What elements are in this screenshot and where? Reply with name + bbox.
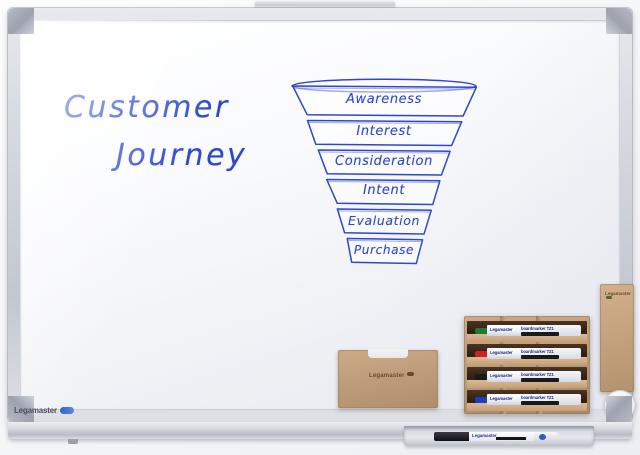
marker-model-label: boardmarker TZ1 [521,326,554,331]
tray-marker-badge-icon [539,434,546,440]
whiteboard-scene: Customer Journey AwarenessInterestConsid… [0,0,640,455]
legamaster-dot-icon [606,296,612,299]
marker-brand-label: Legamaster [490,396,513,401]
caddy-slot[interactable]: Legamasterboardmarker TZ1 [467,321,587,342]
marker-model-label: boardmarker TZ1 [521,395,554,400]
cardboard-eraser-holder[interactable]: Legamaster [600,284,634,392]
tray-marker-end [534,432,558,441]
marker-brand-label: Legamaster [490,350,513,355]
marker-colour-band [521,401,559,405]
funnel-stage-label: Interest [286,124,482,139]
frame-corner-top-right [606,8,632,34]
marker-model-label: boardmarker TZ1 [521,349,554,354]
pocket-brand-text: Legamaster [369,373,405,379]
frame-brand-plate: Legamaster [14,406,74,415]
marker-red[interactable]: Legamasterboardmarker TZ1 [475,348,581,359]
marker-green[interactable]: Legamasterboardmarker TZ1 [475,325,581,336]
marker-model-label: boardmarker TZ1 [521,372,554,377]
pocket-notch [368,349,408,358]
tray-marker-cap [434,432,470,441]
caddy-slot[interactable]: Legamasterboardmarker TZ1 [467,367,587,388]
funnel-stage-label: Consideration [286,154,482,169]
frame-corner-top-left [8,8,34,34]
marker-colour-band [521,332,559,336]
rail-clip [68,439,78,444]
legamaster-dot-icon [407,372,414,376]
marker-brand-label: Legamaster [490,373,513,378]
cardboard-pen-pocket[interactable]: Legamaster [338,350,438,408]
funnel-stage-label: Purchase [286,243,482,257]
tray-marker-brand-label: Legamaster [472,433,497,438]
whiteboard-surface[interactable]: Customer Journey AwarenessInterestConsid… [20,20,620,410]
cardboard-marker-caddy[interactable]: Legamasterboardmarker TZ1Legamasterboard… [464,316,590,414]
marker-colour-band [521,355,559,359]
whiteboard-frame: Customer Journey AwarenessInterestConsid… [8,8,632,422]
handwritten-title-line-1: Customer [64,90,230,125]
funnel-diagram: AwarenessInterestConsiderationIntentEval… [286,72,482,272]
marker-brand-label: Legamaster [490,327,513,332]
funnel-stage-label: Intent [286,183,482,198]
aluminium-pen-tray[interactable]: Legamaster [404,426,594,446]
caddy-slot[interactable]: Legamasterboardmarker TZ1 [467,390,587,411]
caddy-slot[interactable]: Legamasterboardmarker TZ1 [467,344,587,365]
funnel-stage-label: Evaluation [286,213,482,228]
tray-marker-model-band [496,437,526,440]
marker-colour-band [521,378,559,382]
funnel-stage-label: Awareness [286,92,482,107]
handwritten-title-line-2: Journey [116,138,247,173]
frame-brand-label: Legamaster [14,406,57,415]
marker-blue[interactable]: Legamasterboardmarker TZ1 [475,394,581,405]
marker-black[interactable]: Legamasterboardmarker TZ1 [475,371,581,382]
legamaster-swoosh-icon [60,407,74,414]
frame-corner-bottom-right [606,396,632,422]
pocket-brand-label: Legamaster [369,372,414,379]
tray-marker[interactable]: Legamaster [434,432,558,441]
eraser-brand-label: Legamaster [605,291,634,301]
